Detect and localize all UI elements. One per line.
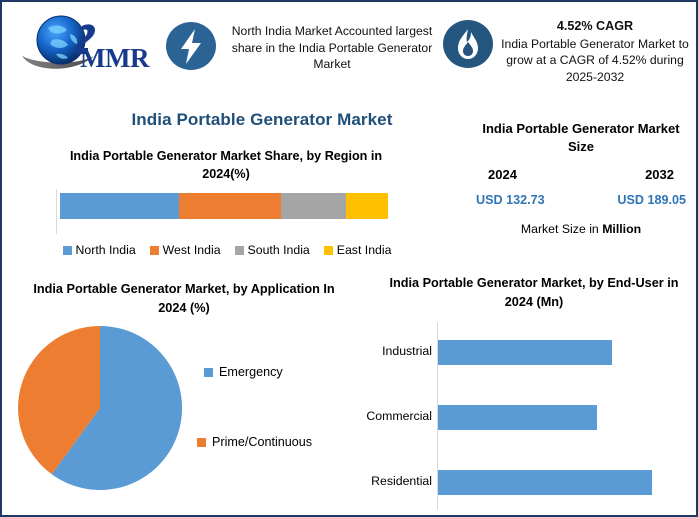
bar-label-commercial: Commercial (282, 409, 432, 423)
cagr-description: India Portable Generator Market to grow … (501, 37, 689, 84)
chart-region-share-legend: North India West India South India East … (48, 243, 406, 257)
bar-fill-commercial (438, 405, 597, 430)
page-title: India Portable Generator Market (37, 110, 487, 130)
bar-row-industrial: Industrial (384, 326, 684, 382)
header-badge-north-india-text: North India Market Accounted largest sha… (224, 23, 440, 73)
chart-end-user-title: India Portable Generator Market, by End-… (384, 274, 684, 312)
bar-row-commercial: Commercial (384, 391, 684, 447)
stacked-bar-segment-south-india (281, 193, 346, 219)
chart-region-share: India Portable Generator Market Share, b… (26, 147, 426, 267)
chart-region-share-plot (56, 189, 422, 234)
legend-swatch-north-india (63, 246, 72, 255)
infographic-canvas: MMR North India Market Accounted largest… (0, 0, 698, 517)
application-pie (14, 322, 186, 494)
market-size-panel: India Portable Generator Market Size 202… (470, 120, 692, 260)
stacked-bar-segment-west-india (179, 193, 281, 219)
header-badge-cagr-text: 4.52% CAGR India Portable Generator Mark… (496, 18, 694, 85)
legend-item-west-india: West India (150, 243, 221, 257)
header-band: MMR North India Market Accounted largest… (2, 2, 698, 94)
bar-fill-residential (438, 470, 652, 495)
legend-item-south-india: South India (235, 243, 310, 257)
legend-label-west-india: West India (163, 243, 221, 257)
chart-region-share-title: India Portable Generator Market Share, b… (46, 147, 406, 183)
legend-label-east-india: East India (337, 243, 392, 257)
legend-swatch-west-india (150, 246, 159, 255)
legend-swatch-emergency (204, 368, 213, 377)
stacked-bar-segment-north-india (60, 193, 179, 219)
market-size-value-end: USD 189.05 (617, 193, 686, 207)
mmr-logo: MMR (18, 10, 156, 78)
cagr-headline: 4.52% CAGR (496, 18, 694, 35)
legend-label-prime-continuous: Prime/Continuous (212, 435, 312, 449)
legend-swatch-south-india (235, 246, 244, 255)
legend-label-emergency: Emergency (219, 365, 283, 379)
legend-item-north-india: North India (63, 243, 136, 257)
market-size-year-end: 2032 (645, 167, 674, 182)
market-size-years: 2024 2032 (470, 167, 692, 182)
legend-item-east-india: East India (324, 243, 392, 257)
stacked-bar (60, 193, 388, 219)
svg-text:MMR: MMR (80, 43, 150, 73)
legend-swatch-prime-continuous (197, 438, 206, 447)
market-size-values: USD 132.73 USD 189.05 (470, 193, 692, 207)
legend-item-emergency: Emergency (204, 365, 283, 379)
globe-swoosh-icon: MMR (18, 10, 156, 78)
market-size-footnote-prefix: Market Size in (521, 222, 602, 236)
market-size-title: India Portable Generator Market Size (470, 120, 692, 156)
flame-icon (442, 18, 494, 70)
chart-application-share-title: India Portable Generator Market, by Appl… (24, 280, 344, 318)
legend-label-south-india: South India (248, 243, 310, 257)
legend-label-north-india: North India (76, 243, 136, 257)
bar-label-industrial: Industrial (282, 344, 432, 358)
legend-item-prime-continuous: Prime/Continuous (197, 435, 312, 449)
market-size-footnote: Market Size in Million (470, 222, 692, 236)
chart-end-user: India Portable Generator Market, by End-… (384, 274, 696, 517)
market-size-footnote-unit: Million (602, 222, 641, 236)
market-size-value-start: USD 132.73 (476, 193, 545, 207)
bar-label-residential: Residential (282, 474, 432, 488)
market-size-year-start: 2024 (488, 167, 517, 182)
bar-fill-industrial (438, 340, 612, 365)
legend-swatch-east-india (324, 246, 333, 255)
bar-row-residential: Residential (384, 456, 684, 512)
stacked-bar-segment-east-india (346, 193, 388, 219)
lightning-bolt-icon (165, 20, 217, 72)
chart-end-user-plot: Industrial Commercial Residential (384, 320, 684, 512)
